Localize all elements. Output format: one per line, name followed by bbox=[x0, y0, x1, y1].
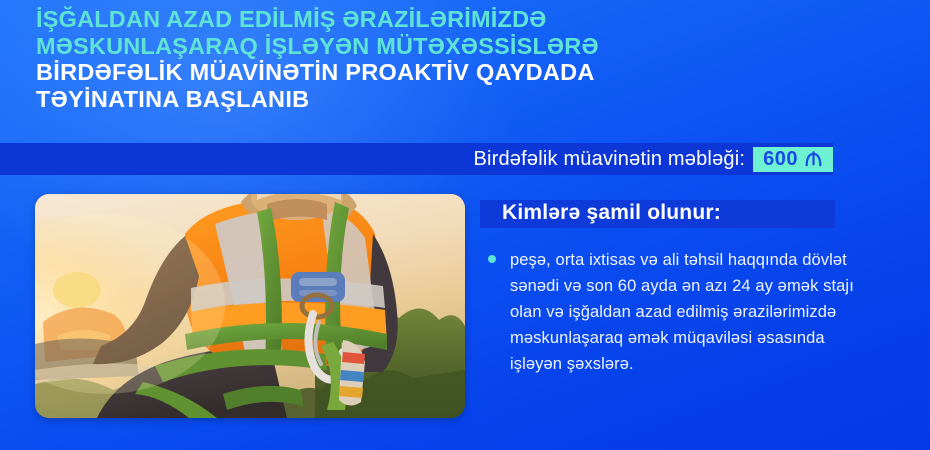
worker-photo bbox=[35, 194, 465, 418]
page-title: İŞĞALDAN AZAD EDİLMİŞ ƏRAZİLƏRİMİZDƏ MƏS… bbox=[36, 6, 866, 112]
title-line-1: İŞĞALDAN AZAD EDİLMİŞ ƏRAZİLƏRİMİZDƏ bbox=[36, 6, 866, 33]
manat-icon bbox=[804, 150, 823, 167]
amount-value: 600 bbox=[763, 149, 798, 169]
eligibility-bullet-text: peşə, orta ixtisas və ali təhsil haqqınd… bbox=[510, 247, 880, 377]
amount-label: Birdəfəlik müavinətin məbləği: bbox=[473, 148, 745, 171]
amount-banner: Birdəfəlik müavinətin məbləği: 600 bbox=[0, 143, 833, 175]
title-line-2: MƏSKUNLAŞARAQ İŞLƏYƏN MÜTƏXƏSSİSLƏRƏ bbox=[36, 33, 866, 60]
eligibility-heading: Kimlərə şamil olunur: bbox=[480, 196, 880, 229]
eligibility-section: Kimlərə şamil olunur: peşə, orta ixtisas… bbox=[480, 196, 880, 377]
amount-badge: 600 bbox=[753, 147, 833, 172]
title-line-4: TƏYİNATINA BAŞLANIB bbox=[36, 86, 866, 113]
bullet-dot-icon bbox=[488, 255, 496, 263]
infographic-poster: İŞĞALDAN AZAD EDİLMİŞ ƏRAZİLƏRİMİZDƏ MƏS… bbox=[0, 0, 930, 450]
list-item: peşə, orta ixtisas və ali təhsil haqqınd… bbox=[480, 247, 880, 377]
title-line-3: BİRDƏFƏLİK MÜAVİNƏTİN PROAKTİV QAYDADA bbox=[36, 59, 866, 86]
